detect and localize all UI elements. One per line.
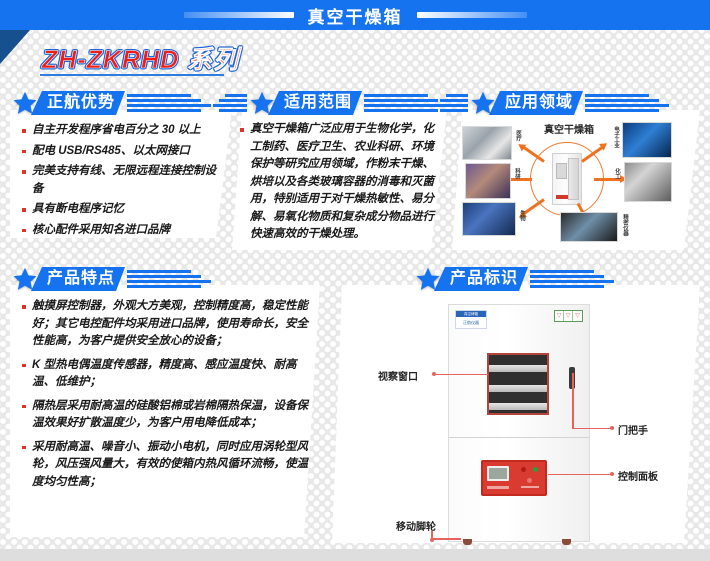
observation-window (487, 353, 549, 415)
diagram-thumbnail (465, 163, 511, 199)
badge-icon: ▽ (573, 311, 582, 321)
indicator-light-red (521, 467, 526, 472)
caster-wheel (562, 539, 571, 545)
features-list: 触摸屏控制器，外观大方美观，控制精度高，稳定性能好；其它电控配件均采用进口品牌，… (20, 298, 308, 494)
section-label-scope: 适用范围 (268, 91, 362, 115)
list-item: 自主开发程序省电百分之 30 以上 (20, 122, 220, 140)
diagram-node-label: 化工 (613, 168, 621, 179)
callout-label-control-panel: 控制面板 (618, 468, 658, 483)
sticker-brand-text: 正航仪器 (456, 317, 486, 328)
diagram-thumbnail (624, 162, 672, 202)
section-header-fields: 应用领域 (434, 90, 669, 116)
section-header-advantages: 正航优势 (12, 90, 211, 116)
badge-icon: ▽ (564, 311, 573, 321)
list-item: K 型热电偶温度传感器，精度高、感应温度快、耐高温、低维护； (20, 357, 308, 392)
product-rating-badges: ▽ ▽ ▽ (554, 310, 583, 322)
diagram-thumbnail (560, 212, 618, 242)
star-icon (12, 90, 38, 116)
list-item: 隔热层采用耐高温的硅酸铝棉或岩棉隔热保温，设备保温效果好扩散温度少，为客户用电降… (20, 398, 308, 433)
advantages-list: 自主开发程序省电百分之 30 以上 配电 USB/RS485、以太网接口 完美支… (20, 122, 220, 242)
callout-line (572, 428, 612, 430)
banner-rule-left (184, 12, 294, 18)
callout-line (548, 474, 612, 476)
scope-paragraph: 真空干燥箱广泛应用于生物化学，化工制药、医疗卫生、农业科研、环境保护等研究应用领… (238, 121, 436, 244)
header-stripes (127, 91, 211, 115)
section-label-features: 产品特点 (31, 267, 125, 291)
diagram-node-label: 科研 (513, 168, 521, 179)
list-item: 采用耐高温、噪音小、振动小电机，同时应用涡轮型风轮，风压强风量大，有效的使箱内热… (20, 439, 308, 492)
badge-icon: ▽ (555, 311, 564, 321)
callout-label-handle: 门把手 (618, 422, 648, 437)
control-panel (481, 460, 547, 496)
diagram-thumbnail (462, 126, 512, 160)
list-item: 触摸屏控制器，外观大方美观，控制精度高，稳定性能好；其它电控配件均采用进口品牌，… (20, 298, 308, 351)
section-label-fields: 应用领域 (489, 91, 583, 115)
callout-line (572, 373, 574, 429)
callout-label-window: 视察窗口 (378, 368, 418, 383)
section-header-features: 产品特点 (12, 266, 211, 292)
list-item: 核心配件采用知名进口品牌 (20, 222, 220, 240)
header-stripes-left (213, 91, 247, 115)
application-fields-diagram: 真空干燥箱 医疗 科研 生物 电子工业 化工 精密仪器 (452, 116, 700, 248)
series-title: ZH-ZKRHD 系列 (42, 40, 239, 76)
section-label-identification: 产品标识 (434, 267, 528, 291)
star-icon (470, 90, 496, 116)
diagram-thumbnail (622, 122, 672, 158)
callout-line (436, 374, 488, 376)
diagram-thumbnail (462, 202, 516, 236)
diagram-node-label: 精密仪器 (621, 214, 629, 236)
diagram-node-label: 医疗 (514, 130, 522, 141)
indicator-light-green (533, 467, 538, 472)
header-stripes (530, 267, 614, 291)
diagram-node-label: 电子工业 (612, 126, 620, 148)
callout-line (431, 538, 461, 540)
banner-title: 真空干燥箱 (308, 3, 403, 28)
hub-dryer-image (552, 153, 582, 205)
header-stripes (127, 267, 211, 291)
header-stripes-left (434, 91, 468, 115)
banner-rule-right (417, 12, 527, 18)
header-stripes (585, 91, 669, 115)
top-banner: 真空干燥箱 (0, 0, 710, 30)
list-item: 配电 USB/RS485、以太网接口 (20, 143, 220, 161)
star-icon (415, 266, 441, 292)
diagram-node-label: 生物 (518, 210, 526, 221)
section-header-scope: 适用范围 (213, 90, 448, 116)
product-sticker: 真空烤箱 正航仪器 (455, 310, 487, 329)
series-title-underline (40, 74, 224, 76)
power-button (527, 478, 532, 483)
star-icon (12, 266, 38, 292)
callout-label-caster: 移动脚轮 (396, 518, 436, 533)
product-photo: 真空烤箱 正航仪器 ▽ ▽ ▽ (448, 304, 590, 542)
section-label-advantages: 正航优势 (31, 91, 125, 115)
diagram-title: 真空干燥箱 (544, 121, 594, 136)
section-header-identification: 产品标识 (415, 266, 614, 292)
control-panel-lcd (487, 466, 509, 481)
bottom-strip (0, 549, 710, 561)
list-item: 具有断电程序记忆 (20, 201, 220, 219)
star-icon (249, 90, 275, 116)
corner-wedge-decoration (0, 30, 30, 64)
caster-wheel (463, 539, 472, 545)
list-item: 完美支持有线、无限远程连接控制设备 (20, 163, 220, 198)
